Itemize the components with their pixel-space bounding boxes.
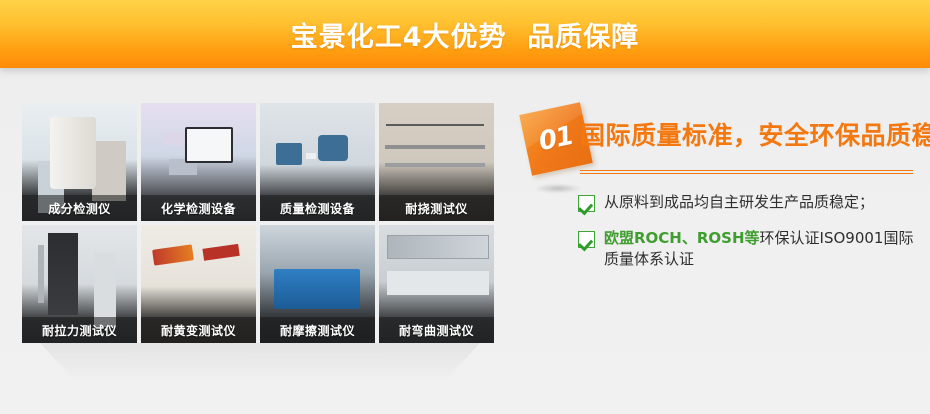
gallery-tile-caption: 耐弯曲测试仪 bbox=[379, 317, 494, 343]
gallery-tile-caption: 耐摩擦测试仪 bbox=[260, 317, 375, 343]
badge-drop-shadow bbox=[535, 184, 581, 193]
gallery-tile-caption: 耐挠测试仪 bbox=[379, 195, 494, 221]
check-icon bbox=[578, 195, 595, 212]
feature-bullet-list: 从原料到成品均自主研发生产品质稳定； 欧盟ROCH、ROSH等环保认证ISO90… bbox=[578, 192, 918, 285]
gallery-tile[interactable]: 耐摩擦测试仪 bbox=[260, 225, 375, 343]
gallery-tile-caption: 化学检测设备 bbox=[141, 195, 256, 221]
bullet-text: 欧盟ROCH、ROSH等环保认证ISO9001国际质量体系认证 bbox=[604, 228, 918, 270]
gallery-tile[interactable]: 成分检测仪 bbox=[22, 103, 137, 221]
check-icon bbox=[578, 231, 595, 248]
gallery-tile[interactable]: 质量检测设备 bbox=[260, 103, 375, 221]
gallery-reflection bbox=[40, 343, 480, 381]
gallery-tile[interactable]: 耐挠测试仪 bbox=[379, 103, 494, 221]
headline-divider bbox=[580, 170, 913, 174]
gallery-tile-caption: 成分检测仪 bbox=[22, 195, 137, 221]
list-item: 从原料到成品均自主研发生产品质稳定； bbox=[578, 192, 918, 213]
gallery-tile[interactable]: 耐弯曲测试仪 bbox=[379, 225, 494, 343]
equipment-gallery: 成分检测仪 化学检测设备 质量检测设备 耐挠测试仪 耐拉力测试仪 耐黄变测试仪 … bbox=[22, 103, 494, 343]
banner-title: 宝景化工4大优势 品质保障 bbox=[291, 15, 640, 54]
gallery-tile[interactable]: 耐拉力测试仪 bbox=[22, 225, 137, 343]
gallery-tile-caption: 耐黄变测试仪 bbox=[141, 317, 256, 343]
header-banner: 宝景化工4大优势 品质保障 bbox=[0, 0, 930, 68]
promo-banner-page: 宝景化工4大优势 品质保障 成分检测仪 化学检测设备 质量检测设备 耐挠测试仪 … bbox=[0, 0, 930, 414]
gallery-tile[interactable]: 化学检测设备 bbox=[141, 103, 256, 221]
gallery-tile-caption: 质量检测设备 bbox=[260, 195, 375, 221]
list-item: 欧盟ROCH、ROSH等环保认证ISO9001国际质量体系认证 bbox=[578, 228, 918, 270]
bullet-text: 从原料到成品均自主研发生产品质稳定； bbox=[604, 192, 874, 213]
gallery-tile[interactable]: 耐黄变测试仪 bbox=[141, 225, 256, 343]
feature-headline: 国际质量标准，安全环保品质稳定 bbox=[580, 116, 915, 152]
bullet-highlight: 欧盟ROCH、ROSH等 bbox=[604, 229, 760, 247]
gallery-tile-caption: 耐拉力测试仪 bbox=[22, 317, 137, 343]
feature-panel: 01 国际质量标准，安全环保品质稳定 从原料到成品均自主研发生产品质稳定； 欧盟… bbox=[515, 100, 915, 350]
